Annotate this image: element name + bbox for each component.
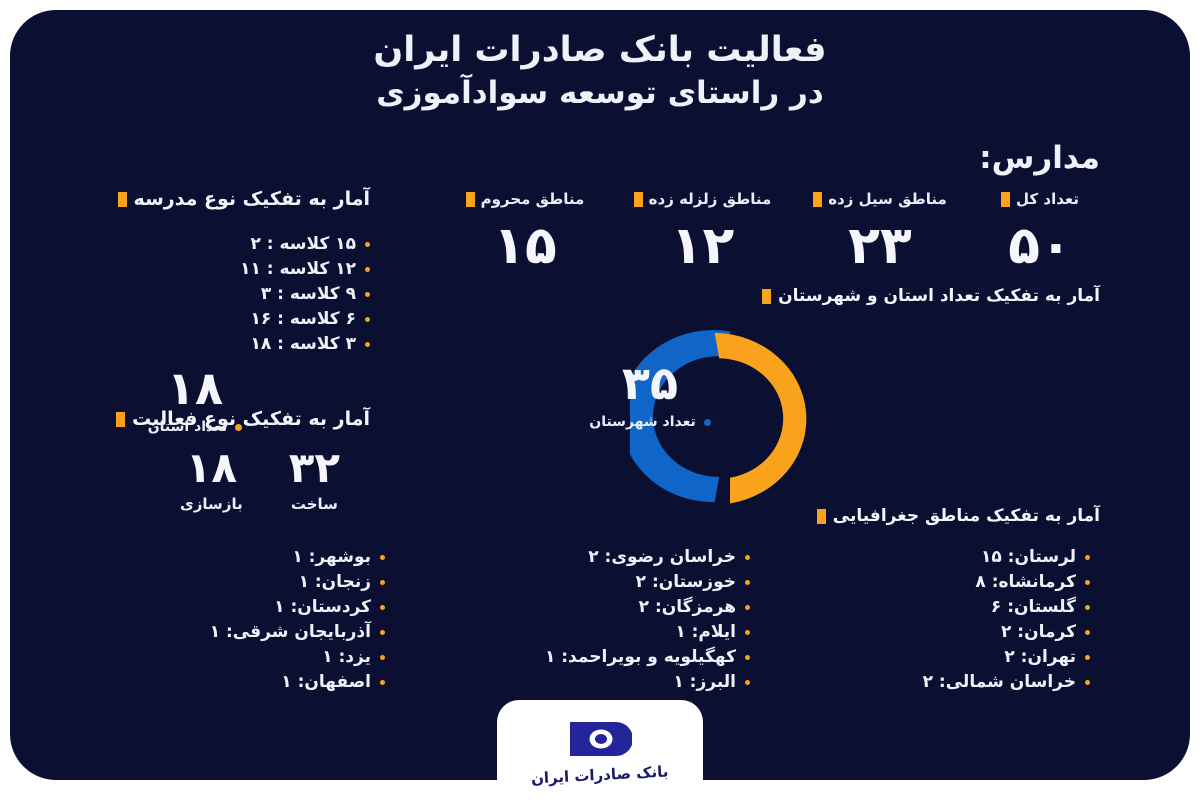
schools-heading: مدارس: <box>979 140 1100 176</box>
bullet-square-icon <box>116 412 125 427</box>
list-item: ۱۵ کلاسه : ۲ <box>145 232 370 257</box>
infographic-stage: فعالیت بانک صادرات ایران در راستای توسعه… <box>0 0 1200 800</box>
bullet-dot-icon <box>1085 555 1090 560</box>
list-item-label: کهگیلویه و بویراحمد: ۱ <box>545 645 736 670</box>
list-item: هرمزگان: ۲ <box>450 595 750 620</box>
stat-total-label: تعداد کل <box>1016 190 1079 208</box>
list-item-label: البرز: ۱ <box>673 670 736 695</box>
list-item: زنجان: ۱ <box>135 570 385 595</box>
stat-flood: مناطق سیل زده ۲۳ <box>800 190 960 275</box>
list-item-label: خراسان شمالی: ۲ <box>923 670 1076 695</box>
stat-flood-caption: مناطق سیل زده <box>800 190 960 208</box>
stat-deprived-caption: مناطق محروم <box>445 190 605 208</box>
bullet-dot-icon <box>380 630 385 635</box>
list-item: یزد: ۱ <box>135 645 385 670</box>
list-item-label: لرستان: ۱۵ <box>981 545 1076 570</box>
stat-earthquake-value: ۱۲ <box>620 217 785 275</box>
bullet-dot-icon <box>380 605 385 610</box>
list-item: ایلام: ۱ <box>450 620 750 645</box>
bank-logo-text: بانک صادرات ایران <box>531 762 669 787</box>
activity-renovate-label: بازسازی <box>180 495 243 513</box>
geography-column-right: لرستان: ۱۵ کرمانشاه: ۸ گلستان: ۶ کرمان: … <box>880 545 1090 695</box>
list-item-label: خراسان رضوی: ۲ <box>588 545 736 570</box>
list-item-label: کرمان: ۲ <box>1001 620 1076 645</box>
legend-province-label: تعداد استان <box>148 419 228 435</box>
stat-deprived-value: ۱۵ <box>445 217 605 275</box>
bullet-dot-icon <box>365 342 370 347</box>
list-item: بوشهر: ۱ <box>135 545 385 570</box>
bullet-dot-icon <box>380 580 385 585</box>
province-county-heading-label: آمار به تفکیک تعداد استان و شهرستان <box>778 286 1100 306</box>
geography-heading: آمار به تفکیک مناطق جغرافیایی <box>817 506 1100 526</box>
activity-build: ۳۲ ساخت <box>289 445 340 513</box>
activity-build-value: ۳۲ <box>289 445 340 491</box>
bullet-dot-icon <box>1085 655 1090 660</box>
legend-dot-blue-icon <box>704 419 711 426</box>
bullet-dot-icon <box>745 555 750 560</box>
logo-svg <box>568 718 632 760</box>
legend-province-value: ۱۸ <box>125 363 265 413</box>
bullet-dot-icon <box>1085 680 1090 685</box>
list-item-label: آذربایجان شرقی: ۱ <box>210 620 371 645</box>
school-type-heading-label: آمار به تفکیک نوع مدرسه <box>134 188 370 210</box>
list-item: کهگیلویه و بویراحمد: ۱ <box>450 645 750 670</box>
list-item: کردستان: ۱ <box>135 595 385 620</box>
legend-dot-orange-icon <box>235 424 242 431</box>
list-item-label: یزد: ۱ <box>322 645 371 670</box>
bullet-square-icon <box>817 509 826 524</box>
bullet-square-icon <box>634 192 643 207</box>
bullet-dot-icon <box>380 655 385 660</box>
title-line-2: در راستای توسعه سوادآموزی <box>0 72 1200 114</box>
list-item: خراسان رضوی: ۲ <box>450 545 750 570</box>
bank-logo-card: بانک صادرات ایران <box>497 700 703 800</box>
bullet-square-icon <box>466 192 475 207</box>
list-item: ۹ کلاسه : ۳ <box>145 282 370 307</box>
geography-heading-label: آمار به تفکیک مناطق جغرافیایی <box>833 506 1100 526</box>
stat-deprived-label: مناطق محروم <box>481 190 585 208</box>
school-type-heading: آمار به تفکیک نوع مدرسه <box>118 188 370 210</box>
bullet-dot-icon <box>745 630 750 635</box>
legend-county: ۳۵ تعداد شهرستان <box>575 358 725 430</box>
list-item-label: ۱۲ کلاسه : ۱۱ <box>240 257 356 282</box>
bullet-square-icon <box>762 289 771 304</box>
list-item-label: ۶ کلاسه : ۱۶ <box>250 307 356 332</box>
bullet-dot-icon <box>365 267 370 272</box>
list-item: آذربایجان شرقی: ۱ <box>135 620 385 645</box>
list-item-label: ایلام: ۱ <box>675 620 736 645</box>
legend-county-label: تعداد شهرستان <box>589 414 696 430</box>
legend-county-value: ۳۵ <box>575 358 725 408</box>
bullet-dot-icon <box>745 605 750 610</box>
stat-total-caption: تعداد کل <box>975 190 1105 208</box>
list-item: خراسان شمالی: ۲ <box>880 670 1090 695</box>
bullet-dot-icon <box>365 317 370 322</box>
list-item: تهران: ۲ <box>880 645 1090 670</box>
list-item-label: اصفهان: ۱ <box>281 670 371 695</box>
list-item-label: ۱۵ کلاسه : ۲ <box>250 232 356 257</box>
bullet-square-icon <box>118 192 127 207</box>
list-item: البرز: ۱ <box>450 670 750 695</box>
stat-earthquake-caption: مناطق زلزله زده <box>620 190 785 208</box>
bullet-dot-icon <box>1085 630 1090 635</box>
geography-column-middle: خراسان رضوی: ۲ خوزستان: ۲ هرمزگان: ۲ ایل… <box>450 545 750 695</box>
list-item: ۳ کلاسه : ۱۸ <box>145 332 370 357</box>
list-item: لرستان: ۱۵ <box>880 545 1090 570</box>
bullet-dot-icon <box>745 580 750 585</box>
bullet-dot-icon <box>745 680 750 685</box>
legend-county-label-row: تعداد شهرستان <box>575 414 725 430</box>
activity-type-values: ۳۲ ساخت ۱۸ بازسازی <box>180 445 340 513</box>
stat-earthquake-label: مناطق زلزله زده <box>649 190 772 208</box>
bullet-dot-icon <box>1085 605 1090 610</box>
list-item-label: ۳ کلاسه : ۱۸ <box>250 332 356 357</box>
stat-deprived: مناطق محروم ۱۵ <box>445 190 605 275</box>
list-item-label: تهران: ۲ <box>1004 645 1076 670</box>
bullet-dot-icon <box>380 680 385 685</box>
bullet-dot-icon <box>365 242 370 247</box>
list-item: ۱۲ کلاسه : ۱۱ <box>145 257 370 282</box>
list-item: کرمان: ۲ <box>880 620 1090 645</box>
bullet-dot-icon <box>1085 580 1090 585</box>
list-item: ۶ کلاسه : ۱۶ <box>145 307 370 332</box>
activity-renovate: ۱۸ بازسازی <box>180 445 243 513</box>
list-item-label: ۹ کلاسه : ۳ <box>261 282 356 307</box>
list-item: اصفهان: ۱ <box>135 670 385 695</box>
stat-total-value: ۵۰ <box>975 217 1105 275</box>
list-item-label: زنجان: ۱ <box>299 570 371 595</box>
activity-renovate-value: ۱۸ <box>180 445 243 491</box>
list-item-label: کرمانشاه: ۸ <box>975 570 1076 595</box>
legend-province-label-row: تعداد استان <box>125 419 265 435</box>
stat-flood-value: ۲۳ <box>800 217 960 275</box>
donut-slice-province <box>715 333 807 504</box>
activity-build-label: ساخت <box>289 495 340 513</box>
bullet-dot-icon <box>365 292 370 297</box>
list-item-label: خوزستان: ۲ <box>636 570 736 595</box>
list-item: کرمانشاه: ۸ <box>880 570 1090 595</box>
bullet-square-icon <box>1001 192 1010 207</box>
page-title: فعالیت بانک صادرات ایران در راستای توسعه… <box>0 28 1200 114</box>
bullet-dot-icon <box>380 555 385 560</box>
bullet-dot-icon <box>745 655 750 660</box>
list-item-label: هرمزگان: ۲ <box>639 595 736 620</box>
bullet-square-icon <box>813 192 822 207</box>
list-item-label: بوشهر: ۱ <box>292 545 371 570</box>
school-type-list: ۱۵ کلاسه : ۲ ۱۲ کلاسه : ۱۱ ۹ کلاسه : ۳ ۶… <box>145 232 370 357</box>
list-item-label: کردستان: ۱ <box>274 595 371 620</box>
title-line-1: فعالیت بانک صادرات ایران <box>0 28 1200 72</box>
list-item: گلستان: ۶ <box>880 595 1090 620</box>
stat-flood-label: مناطق سیل زده <box>828 190 947 208</box>
stat-total: تعداد کل ۵۰ <box>975 190 1105 275</box>
legend-province: ۱۸ تعداد استان <box>125 363 265 435</box>
stat-earthquake: مناطق زلزله زده ۱۲ <box>620 190 785 275</box>
list-item-label: گلستان: ۶ <box>991 595 1076 620</box>
geography-column-left: بوشهر: ۱ زنجان: ۱ کردستان: ۱ آذربایجان ش… <box>135 545 385 695</box>
bank-saderat-mark-icon <box>568 718 632 764</box>
list-item: خوزستان: ۲ <box>450 570 750 595</box>
province-county-heading: آمار به تفکیک تعداد استان و شهرستان <box>762 286 1100 306</box>
